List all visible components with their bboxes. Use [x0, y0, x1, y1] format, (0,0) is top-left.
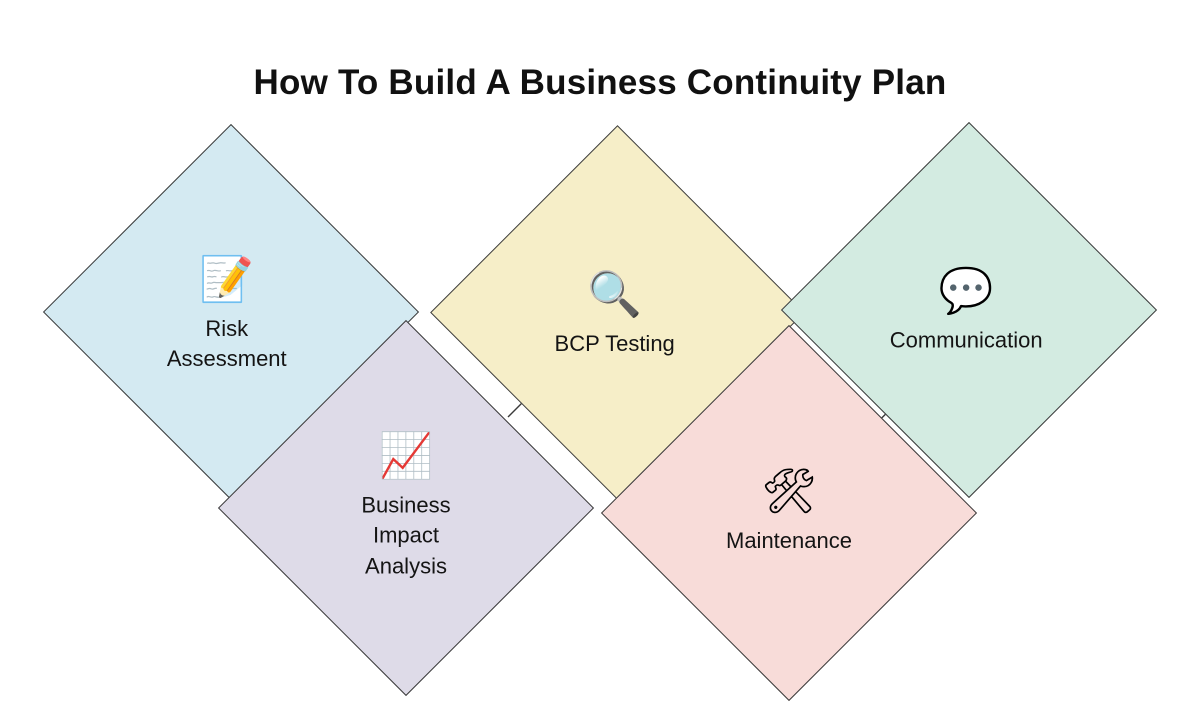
step-label-business-impact-analysis: Business Impact Analysis	[361, 490, 450, 581]
memo-pencil-icon: 📝	[199, 258, 254, 302]
chart-increasing-icon: 📈	[379, 434, 434, 478]
magnifying-glass-icon: 🔍	[587, 272, 642, 316]
infographic-canvas: How To Build A Business Continuity Plan …	[0, 0, 1200, 712]
hammer-and-wrench-icon: 🛠	[761, 470, 817, 514]
step-content-risk-assessment: 📝 Risk Assessment	[97, 258, 357, 375]
step-content-maintenance: 🛠 Maintenance	[659, 470, 919, 556]
step-content-bcp-testing: 🔍 BCP Testing	[485, 272, 745, 358]
speech-balloon-icon: 💬	[939, 270, 994, 314]
step-label-communication: Communication	[890, 326, 1043, 356]
step-content-communication: 💬 Communication	[836, 270, 1096, 356]
step-content-business-impact-analysis: 📈 Business Impact Analysis	[276, 434, 536, 581]
step-label-bcp-testing: BCP Testing	[555, 328, 675, 358]
step-label-risk-assessment: Risk Assessment	[167, 314, 287, 375]
step-label-maintenance: Maintenance	[726, 526, 852, 556]
